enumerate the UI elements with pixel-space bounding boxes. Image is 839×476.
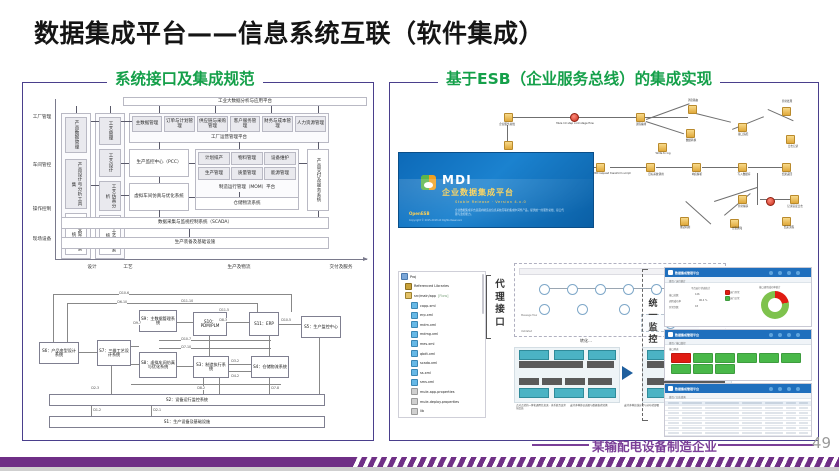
- net-edge: [67, 303, 68, 346]
- user-icon[interactable]: [769, 387, 773, 391]
- flow-node[interactable]: [504, 141, 513, 150]
- mom-material: 物料管理: [231, 152, 263, 165]
- tree-label: src/main/app: [414, 294, 436, 298]
- page-number: 49: [812, 434, 831, 452]
- flow-node-label: 记录错误日志: [778, 204, 812, 208]
- proxy-interface-brace: [486, 275, 491, 339]
- flow-node[interactable]: [688, 105, 697, 114]
- connector: [318, 211, 319, 217]
- flow-node[interactable]: [686, 129, 695, 138]
- net-edge: [131, 346, 139, 347]
- legend-label: 运行异常: [730, 290, 740, 294]
- flow-step[interactable]: [595, 284, 606, 295]
- gear-icon[interactable]: [787, 271, 791, 275]
- flow-step[interactable]: [623, 284, 634, 295]
- virtual-workshop-system: 虚拟车间仿真与优化系统: [129, 183, 189, 211]
- flow-node-label: Write to log: [646, 152, 680, 155]
- status-tile-scada[interactable]: [737, 353, 757, 363]
- production-control-center: 生产监控中心（PCC）: [129, 149, 189, 177]
- tree-label: mdm.xml: [420, 323, 436, 327]
- net-edge-label: D8-2: [197, 386, 205, 390]
- net-edge-label: D10-5: [281, 318, 291, 322]
- axis-label-production: 生产及物流: [209, 264, 269, 270]
- connector: [271, 106, 272, 113]
- layers-heading: 转化…: [580, 338, 592, 344]
- connector: [159, 106, 160, 113]
- status-tile-plm[interactable]: [715, 353, 735, 363]
- status-tile-mdm[interactable]: [671, 364, 691, 374]
- mom-maintenance: 设备维护: [264, 152, 296, 165]
- net-edge: [219, 378, 220, 394]
- connector: [159, 210, 160, 217]
- layer-caption: 支持多种协议适配与数据格式转换: [570, 404, 616, 407]
- mom-production: 生产管理: [198, 167, 230, 180]
- net-edge-label: D2-3: [91, 386, 99, 390]
- connector: [189, 229, 190, 237]
- proxy-interface-label: 代理接口: [492, 279, 508, 329]
- user-icon[interactable]: [769, 333, 773, 337]
- node-s8[interactable]: S8：虚拟车间仿真与优化系统: [139, 352, 177, 378]
- tree-label: mule-app.properties: [420, 390, 454, 394]
- tree-row[interactable]: sms.xml: [399, 378, 485, 388]
- stat-label: 调用成功率: [669, 299, 681, 303]
- properties-file-icon: [411, 388, 418, 395]
- flow-node-error[interactable]: [766, 197, 775, 206]
- process-design: 工艺设计: [99, 149, 121, 177]
- net-edge-label: D3-2: [231, 359, 239, 363]
- library-icon: [405, 283, 412, 290]
- status-tile-wms[interactable]: [759, 353, 779, 363]
- flow-node[interactable]: [596, 163, 605, 172]
- mom-quality: 质量管理: [231, 167, 263, 180]
- tree-row[interactable]: ss.xml: [399, 368, 485, 378]
- product-data-management: 产品数据管理: [65, 117, 87, 153]
- flow-node-label: 接口适配: [726, 132, 760, 136]
- dashboard-subnav[interactable]: [665, 393, 811, 399]
- xml-file-icon: [411, 312, 418, 319]
- tree-label: erp.xml: [420, 313, 433, 317]
- node-s9[interactable]: S9：主数据管理系统: [139, 310, 177, 332]
- mom-planning: 计划排产: [198, 152, 230, 165]
- dashboard-interface-monitor[interactable]: 数据集成管理平台 首页 / 接口监控 接口列表: [664, 329, 812, 381]
- flow-node[interactable]: [658, 143, 667, 152]
- master-data-management: 主数据管理: [132, 116, 162, 132]
- flow-node[interactable]: [692, 163, 701, 172]
- footer-rule-right: [718, 444, 814, 446]
- tree-label: scada.xml: [420, 361, 437, 365]
- footer-shadow: [0, 467, 839, 471]
- node-s3[interactable]: S3：制造执行系统: [193, 356, 229, 378]
- finance-cost-management: 财务与成本管理: [262, 116, 293, 132]
- system-interface-network: D10-6 D6-10 D11-10 S6：产品变型设计系统 S7：三维工艺设计…: [31, 288, 367, 436]
- factory-operation-platform-label: 工厂运营管理平台: [129, 133, 329, 142]
- tree-row-root[interactable]: Proj: [399, 272, 485, 282]
- net-edge-label: D1-2: [93, 408, 101, 412]
- folder-icon: [411, 408, 418, 415]
- net-edge: [53, 294, 291, 295]
- stat-label: 异常次数: [669, 305, 679, 309]
- net-edge: [111, 366, 112, 394]
- net-edge-label: D6-10: [117, 300, 127, 304]
- net-edge-label: D11-5: [219, 308, 229, 312]
- net-edge: [79, 352, 97, 353]
- connector: [189, 197, 195, 198]
- dashboard-log-table[interactable]: 数据集成管理平台 首页 / 日志查询: [664, 383, 812, 437]
- tree-label: lib: [420, 409, 424, 413]
- flow-step[interactable]: [567, 284, 578, 295]
- net-edge-label: D10-7: [181, 337, 191, 341]
- mdi-splash-screen: MDI 企业数据集成平台 Stable Release · Version 4.…: [398, 152, 594, 228]
- bell-icon[interactable]: [778, 387, 782, 391]
- architecture-x-axis: [55, 259, 367, 260]
- status-tile-qms[interactable]: [693, 364, 713, 374]
- tree-label: capp.xml: [420, 304, 436, 308]
- mdi-brand: OpenESB: [409, 211, 430, 216]
- supply-chain-procurement: 供应链与采购管理: [197, 116, 228, 132]
- axis-label-design: 设计: [77, 264, 107, 270]
- net-edge-label: D7-10: [181, 345, 191, 349]
- dashboard-logo-icon: [668, 332, 673, 337]
- flow-step[interactable]: [577, 304, 588, 315]
- flow-step[interactable]: [539, 304, 550, 315]
- flow-node[interactable]: [636, 113, 645, 122]
- tree-label: Referenced Libraries: [414, 284, 449, 288]
- architecture-diagram: 工厂管理 车间管控 操作控制 现场设备 设计 工艺 生产及物流 交付及服务 工业…: [29, 97, 369, 285]
- mdi-title: MDI: [442, 173, 472, 187]
- flow-node-label: 数据转换: [674, 138, 708, 142]
- tree-label: mes.xml: [420, 342, 435, 346]
- flow-node-label: 响应解析: [680, 172, 714, 176]
- xml-file-icon: [411, 302, 418, 309]
- dashboard-subnav[interactable]: [665, 339, 811, 345]
- net-edge-label: D8-3: [219, 318, 227, 322]
- logout-icon[interactable]: [796, 271, 800, 275]
- tree-row[interactable]: Referenced Libraries: [399, 282, 485, 292]
- node-s2[interactable]: S2：设备运行监控系统: [49, 394, 325, 406]
- row-label-field: 现场设备: [29, 237, 55, 242]
- tree-row[interactable]: capp.xml: [399, 301, 485, 311]
- tree-label: mule-deploy.properties: [420, 400, 459, 404]
- net-edge-label: D2-1: [153, 408, 161, 412]
- folder-icon: [405, 417, 412, 418]
- flow-node[interactable]: [782, 107, 791, 116]
- panel-left: 系统接口及集成规范 工厂管理 车间管控 操作控制 现场设备 设计 工艺 生产及物…: [22, 82, 374, 441]
- connector: [121, 195, 129, 196]
- xml-file-icon: [411, 360, 418, 367]
- properties-file-icon: [411, 398, 418, 405]
- tree-row[interactable]: mes.xml: [399, 339, 485, 349]
- page-title: 数据集成平台——信息系统互联（软件集成）: [34, 14, 544, 50]
- mdi-copyright: Copyright © 2015-2018 All Rights Reserve…: [409, 219, 462, 222]
- net-edge: [131, 384, 281, 385]
- node-s4[interactable]: S4：仓储物流系统: [251, 356, 289, 378]
- flow-node-label: 重试机制: [668, 225, 702, 229]
- xml-file-icon: [411, 340, 418, 347]
- net-edge: [177, 366, 193, 367]
- dashboard-subnav[interactable]: [665, 277, 811, 283]
- flow-node-label: 告警通知: [720, 226, 754, 230]
- net-edge: [91, 406, 92, 416]
- gear-icon[interactable]: [787, 387, 791, 391]
- stat-label: 接口总数: [669, 293, 679, 297]
- section-title: 接口列表: [669, 347, 679, 351]
- flow-step[interactable]: [539, 284, 550, 295]
- mdi-version: Stable Release · Version 4.x.0: [455, 200, 526, 204]
- unified-monitor-label: 统一监控: [646, 298, 660, 346]
- net-edge: [151, 406, 152, 416]
- warehouse-logistics-system: 仓储物流系统: [195, 197, 299, 210]
- panel-right: 基于ESB（企业服务总线）的集成实现 企业服务总线: [389, 82, 819, 441]
- node-s7[interactable]: S7：三维工艺设计系统: [97, 340, 131, 366]
- net-edge: [269, 336, 270, 356]
- connector: [76, 106, 77, 113]
- panel-right-heading: 基于ESB（企业服务总线）的集成实现: [438, 72, 720, 87]
- node-s11[interactable]: S11：ERP: [249, 312, 279, 336]
- connector: [318, 106, 319, 113]
- net-edge: [159, 340, 271, 341]
- designer-hint: Message flow: [521, 314, 537, 317]
- flow-node[interactable]: [782, 163, 791, 172]
- net-edge-label: D11-10: [181, 299, 194, 303]
- mdi-subtitle: 企业数据集成平台: [442, 187, 514, 198]
- connector: [189, 163, 195, 164]
- connector: [121, 163, 129, 164]
- slide: 数据集成平台——信息系统互联（软件集成） 系统接口及集成规范 工厂管理 车间管控…: [0, 0, 839, 476]
- net-edge: [131, 364, 139, 365]
- net-edge: [159, 348, 271, 349]
- breadcrumb: 首页 / 日志查询: [669, 395, 686, 399]
- node-s5[interactable]: S5：生产监控中心: [301, 316, 341, 338]
- flow-node[interactable]: [504, 113, 513, 122]
- net-edge-label: D7-8: [271, 386, 279, 390]
- connector: [121, 121, 132, 122]
- bell-icon[interactable]: [778, 333, 782, 337]
- net-edge: [53, 294, 54, 346]
- tree-row[interactable]: mdm.xml: [399, 320, 485, 330]
- net-edge: [227, 322, 249, 323]
- order-planning-management: 订单与计划管理: [164, 116, 195, 132]
- gear-icon[interactable]: [787, 333, 791, 337]
- flow-step[interactable]: [651, 284, 662, 295]
- logout-icon[interactable]: [796, 387, 800, 391]
- tree-row[interactable]: mule-deploy.properties: [399, 397, 485, 407]
- row-label-operation: 操作控制: [29, 207, 55, 212]
- net-edge: [269, 378, 270, 394]
- tree-label: ss.xml: [420, 371, 431, 375]
- flow-node[interactable]: [646, 163, 655, 172]
- tree-row[interactable]: src/main/app [Flow]: [399, 291, 485, 301]
- flow-node-label: 日志记录: [776, 144, 810, 148]
- slide-footer: 某输配电设备制造企业: [0, 434, 839, 454]
- panel-left-heading: 系统接口及集成规范: [107, 72, 263, 87]
- xml-file-icon: [411, 350, 418, 357]
- connector: [110, 106, 111, 113]
- flow-node-label: 结束流程: [772, 225, 806, 229]
- customer-service-management: 客户服务管理: [230, 116, 260, 132]
- project-icon: [401, 273, 408, 280]
- user-icon[interactable]: [769, 271, 773, 275]
- mom-energy: 能源管理: [264, 167, 296, 180]
- tree-label: Proj: [410, 275, 416, 279]
- flow-node[interactable]: [738, 195, 747, 204]
- net-edge: [67, 303, 257, 304]
- section-title: 平台运行状态统计: [691, 286, 710, 290]
- tree-label: qbdt.xml: [420, 352, 435, 356]
- breadcrumb: 首页 / 运行统计: [669, 279, 686, 283]
- axis-label-delivery: 交付及服务: [313, 264, 369, 270]
- flow-node-label: 异常捕获: [726, 204, 760, 208]
- tree-row[interactable]: mdmg.xml: [399, 330, 485, 340]
- chart-title: 接口调用成功率统计: [759, 285, 781, 289]
- net-edge-label: D10-6: [119, 291, 129, 295]
- dashboard-logo-icon: [668, 386, 673, 391]
- status-tile-erp[interactable]: [671, 353, 691, 363]
- net-edge: [229, 364, 251, 365]
- row-label-workshop: 车间管控: [29, 163, 55, 168]
- big-data-platform: 工业大数据分析与应用平台: [123, 97, 367, 106]
- status-tile-mes[interactable]: [693, 353, 713, 363]
- logout-icon[interactable]: [796, 333, 800, 337]
- flow-node-label: 结果返回: [770, 172, 804, 176]
- flow-node-error[interactable]: [570, 113, 579, 122]
- xml-file-icon: [411, 331, 418, 338]
- product-design-tools: 产品设计与分析工具集: [65, 159, 87, 209]
- row-label-factory: 工厂管理: [29, 115, 55, 120]
- architecture-y-axis: [55, 99, 56, 259]
- tree-tag: [Flow]: [438, 294, 448, 298]
- net-edge-label: D9-7: [133, 321, 141, 325]
- flow-node[interactable]: [738, 123, 747, 132]
- tree-scrollbar[interactable]: [482, 274, 484, 314]
- flow-node-label: 流程编排: [624, 122, 658, 126]
- hr-management: 人力资源管理: [295, 116, 326, 132]
- xml-file-icon: [411, 379, 418, 386]
- connector: [239, 142, 240, 149]
- ide-project-tree[interactable]: Proj Referenced Libraries src/main/app […: [398, 271, 486, 418]
- flow-node-label: 写入数据库: [724, 172, 764, 176]
- designer-status: Validated: [521, 330, 532, 333]
- node-s10[interactable]: S10：PDM/PLM: [193, 312, 227, 336]
- connector: [91, 185, 99, 186]
- node-s6[interactable]: S6：产品变型设计系统: [39, 342, 79, 364]
- connector: [299, 163, 307, 164]
- dashboard-title: 数据集成管理平台: [675, 387, 699, 391]
- flow-node-label: 目标系统调用: [636, 172, 676, 176]
- flow-node[interactable]: [790, 195, 799, 204]
- tree-label: sms.xml: [420, 380, 434, 384]
- tree-label: mdmg.xml: [420, 332, 438, 336]
- axis-label-process: 工艺: [113, 264, 143, 270]
- breadcrumb: 首页 / 接口监控: [669, 341, 686, 345]
- dashboard-run-stats[interactable]: 数据集成管理平台 首页 / 运行统计 平台运行状态统计 接口总数 126 调用成…: [664, 267, 812, 327]
- scada-system: 数据采集与监视控制系统（SCADA）: [61, 217, 329, 229]
- net-edge: [279, 324, 301, 325]
- net-edge-label: D4-2: [231, 374, 239, 378]
- mom-platform-label: 制造运行管理（MOM）平台: [195, 183, 299, 192]
- legend-label: 运行正常: [730, 296, 740, 300]
- flow-node[interactable]: [786, 135, 795, 144]
- xml-file-icon: [411, 321, 418, 328]
- xml-file-icon: [411, 369, 418, 376]
- connector: [215, 106, 216, 113]
- connector: [159, 142, 160, 149]
- net-edge: [229, 371, 251, 372]
- architecture-row-labels: 工厂管理 车间管控 操作控制 现场设备: [29, 97, 55, 260]
- connector: [91, 121, 99, 122]
- flow-node-label: Mule Int step cont stage flow: [544, 122, 606, 125]
- folder-icon: [405, 292, 412, 299]
- node-s1[interactable]: S1：生产设备及基础设施: [49, 416, 325, 428]
- tree-row[interactable]: lib: [399, 406, 485, 416]
- footer-rule-left: [532, 444, 589, 446]
- dashboard-title: 数据集成管理平台: [675, 333, 699, 337]
- donut-hole: [768, 298, 782, 312]
- net-edge: [319, 338, 320, 394]
- status-tile-capp[interactable]: [781, 353, 801, 363]
- status-tile-srm[interactable]: [715, 364, 735, 374]
- product-delivery-service-system: 产品交付及服务系统: [307, 149, 329, 211]
- process-simulation-analysis: 工艺仿真分析: [99, 181, 121, 211]
- flow-node-label: 消息路由: [676, 98, 710, 102]
- dashboard-title: 数据集成管理平台: [675, 271, 699, 275]
- flow-node[interactable]: [738, 163, 747, 172]
- stat-value: 18: [695, 305, 698, 308]
- tree-row[interactable]: erp.xml: [399, 310, 485, 320]
- flow-node-label: 企业服务总线: [490, 122, 524, 126]
- footer-caption: 某输配电设备制造企业: [592, 436, 717, 455]
- net-edge: [177, 322, 193, 323]
- layer-caption: 点对点式的一体化通用信息流 · 多系统互连复杂度高: [516, 404, 566, 411]
- mdi-description: 企业数据集成平台是面向制造业信息系统互联的集成中间件产品，提供统一的服务总线、接…: [455, 209, 565, 216]
- production-equipment-infrastructure: 生产装备及基础设施: [61, 237, 329, 249]
- net-edge: [291, 294, 292, 312]
- tree-row[interactable]: mule-app.properties: [399, 387, 485, 397]
- dashboard-logo-icon: [668, 270, 673, 275]
- process-management: 工艺管理: [99, 117, 121, 145]
- tree-row[interactable]: qbdt.xml: [399, 349, 485, 359]
- mdi-logo-icon: [421, 175, 436, 190]
- connector: [159, 177, 160, 183]
- net-edge: [209, 336, 210, 356]
- tree-row[interactable]: scada.xml: [399, 358, 485, 368]
- stat-value: 126: [695, 293, 700, 296]
- connector: [239, 192, 240, 197]
- tree-row[interactable]: src/main/api: [399, 416, 485, 418]
- flow-step[interactable]: [619, 304, 630, 315]
- footer-stripe-pattern: [352, 457, 839, 467]
- connector: [318, 142, 319, 149]
- flow-node-label: 异常处理: [770, 99, 804, 103]
- stat-value: 96.4 %: [699, 299, 707, 302]
- bell-icon[interactable]: [778, 271, 782, 275]
